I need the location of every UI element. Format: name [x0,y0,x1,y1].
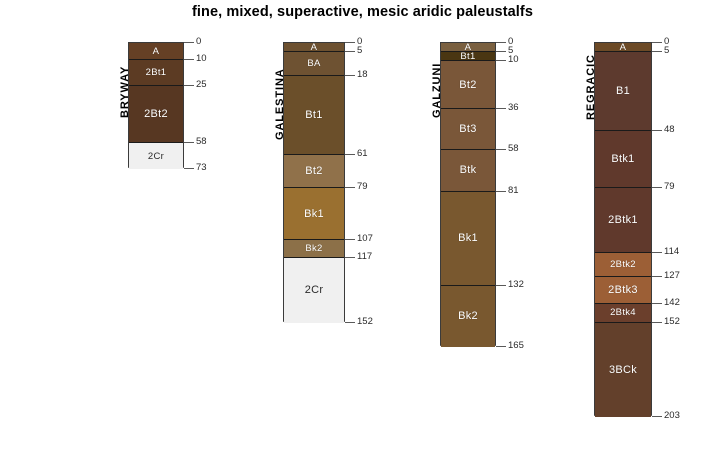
horizon-label: A [153,46,160,57]
depth-tick [652,130,662,131]
horizon-label: Bk2 [305,243,322,254]
depth-tick-label: 61 [357,148,368,159]
horizon-label: B1 [616,85,630,97]
horizon-bt2: Bt2 [284,155,344,188]
horizon-2bt2: 2Bt2 [129,86,183,143]
depth-tick [184,42,194,43]
depth-tick [345,187,355,188]
profile-column: AB1Btk12Btk12Btk22Btk32Btk43BCk [594,42,652,416]
depth-tick-label: 107 [357,233,373,244]
horizon-label: Btk1 [611,153,634,165]
depth-tick [496,285,506,286]
horizon-bk1: Bk1 [284,188,344,240]
horizon-label: 3BCk [609,364,637,376]
depth-tick [345,239,355,240]
depth-tick-label: 58 [196,136,207,147]
depth-tick-label: 132 [508,279,524,290]
horizon-label: Bt3 [459,123,476,135]
horizon-bt1: Bt1 [441,52,495,61]
depth-tick [652,303,662,304]
horizon-ba: BA [284,52,344,76]
horizon-label: Btk [460,164,477,176]
horizon-2btk4: 2Btk4 [595,304,651,322]
depth-tick-label: 73 [196,162,207,173]
depth-tick [652,42,662,43]
depth-tick [652,416,662,417]
depth-tick-label: 18 [357,69,368,80]
depth-tick-label: 81 [508,185,519,196]
horizon-bt2: Bt2 [441,61,495,109]
horizon-bk1: Bk1 [441,192,495,286]
horizon-label: 2Btk1 [608,214,638,226]
horizon-label: Bk1 [304,208,324,220]
depth-tick [184,85,194,86]
horizon-label: 2Btk4 [610,307,636,318]
horizon-label: Bt1 [460,52,475,61]
profile-column: A2Bt12Bt22Cr [128,42,184,168]
horizon-2bt1: 2Bt1 [129,60,183,86]
depth-tick [652,322,662,323]
horizon-bt1: Bt1 [284,76,344,155]
depth-tick [184,168,194,169]
depth-tick-label: 127 [664,270,680,281]
horizon-label: 2Bt2 [144,108,168,120]
depth-tick [496,346,506,347]
depth-tick-label: 79 [664,181,675,192]
depth-tick-label: 152 [357,316,373,327]
horizon-bk2: Bk2 [441,286,495,347]
depth-tick [496,191,506,192]
depth-tick-label: 142 [664,297,680,308]
depth-tick-label: 10 [508,54,519,65]
profile-column: ABt1Bt2Bt3BtkBk1Bk2 [440,42,496,346]
depth-tick [652,187,662,188]
depth-tick-label: 117 [357,251,372,262]
depth-tick [184,59,194,60]
depth-tick [345,322,355,323]
horizon-btk1: Btk1 [595,131,651,188]
horizon-bk2: Bk2 [284,240,344,258]
profile-column: ABABt1Bt2Bk1Bk22Cr [283,42,345,322]
depth-tick-label: 5 [357,45,362,56]
depth-tick-label: 165 [508,340,524,351]
horizon-label: Bt2 [459,79,476,91]
depth-tick-label: 79 [357,181,368,192]
horizon-2btk3: 2Btk3 [595,277,651,305]
horizon-label: BA [307,58,320,69]
depth-tick-label: 0 [196,36,201,47]
horizon-label: 2Btk2 [610,259,636,270]
depth-tick [496,108,506,109]
depth-tick [652,276,662,277]
depth-tick [345,257,355,258]
horizon-label: 2Btk3 [608,284,638,296]
depth-tick [496,60,506,61]
horizon-2cr: 2Cr [129,143,183,169]
horizon-a: A [441,43,495,52]
horizon-2btk2: 2Btk2 [595,253,651,277]
horizon-label: A [620,43,627,52]
depth-tick [496,42,506,43]
depth-tick [345,42,355,43]
horizon-bt3: Bt3 [441,109,495,149]
horizon-a: A [595,43,651,52]
horizon-label: Bt1 [305,109,322,121]
horizon-label: A [311,43,318,52]
horizon-label: Bk1 [458,232,478,244]
horizon-2btk1: 2Btk1 [595,188,651,252]
horizon-2cr: 2Cr [284,258,344,322]
horizon-b1: B1 [595,52,651,131]
horizon-label: A [465,43,472,52]
horizon-label: 2Cr [305,284,324,296]
horizon-label: Bk2 [458,310,478,322]
horizon-a: A [129,43,183,60]
depth-tick-label: 25 [196,79,207,90]
depth-tick-label: 5 [664,45,669,56]
horizon-label: 2Bt1 [146,67,167,78]
depth-tick [345,51,355,52]
depth-tick-label: 152 [664,316,680,327]
depth-tick [345,75,355,76]
depth-tick [652,51,662,52]
depth-tick-label: 48 [664,124,675,135]
depth-tick [496,51,506,52]
horizon-a: A [284,43,344,52]
depth-tick-label: 58 [508,143,519,154]
horizon-label: Bt2 [305,165,322,177]
depth-tick [652,252,662,253]
depth-tick-label: 10 [196,53,207,64]
depth-tick-label: 203 [664,410,680,421]
page-title: fine, mixed, superactive, mesic aridic p… [0,4,725,20]
horizon-label: 2Cr [148,151,164,162]
horizon-3bck: 3BCk [595,323,651,417]
depth-tick-label: 114 [664,246,679,257]
depth-tick [184,142,194,143]
depth-tick-label: 36 [508,102,519,113]
depth-tick [345,154,355,155]
horizon-btk: Btk [441,150,495,192]
depth-tick [496,149,506,150]
